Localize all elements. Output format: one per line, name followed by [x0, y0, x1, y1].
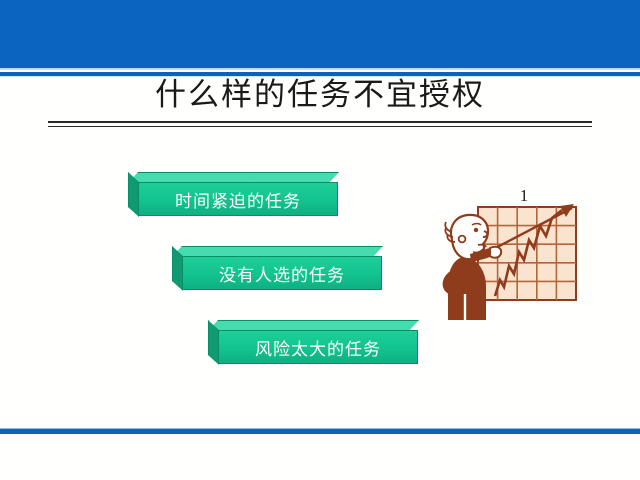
box-label: 时间紧迫的任务 — [175, 187, 301, 212]
box-front-face: 时间紧迫的任务 — [138, 182, 338, 216]
footer-accent-rule — [0, 429, 640, 434]
list-item[interactable]: 时间紧迫的任务 — [128, 172, 338, 206]
slide: 什么样的任务不宜授权 时间紧迫的任务 没有人选的任务 风险太大的任务 1 — [0, 0, 640, 480]
list-item[interactable]: 没有人选的任务 — [172, 246, 382, 280]
slide-header-banner — [0, 0, 640, 68]
page-title: 什么样的任务不宜授权 — [0, 76, 640, 114]
presenter-chart-illustration — [440, 190, 590, 320]
box-front-face: 风险太大的任务 — [218, 330, 418, 364]
title-underline-lower — [48, 126, 592, 127]
box-front-face: 没有人选的任务 — [182, 256, 382, 290]
box-label: 没有人选的任务 — [219, 261, 345, 286]
title-underline-upper — [48, 121, 592, 123]
list-item[interactable]: 风险太大的任务 — [208, 320, 418, 354]
slide-number: 1 — [512, 186, 536, 206]
box-label: 风险太大的任务 — [255, 335, 381, 360]
clipart-presenter-with-chart: 1 — [440, 190, 590, 320]
